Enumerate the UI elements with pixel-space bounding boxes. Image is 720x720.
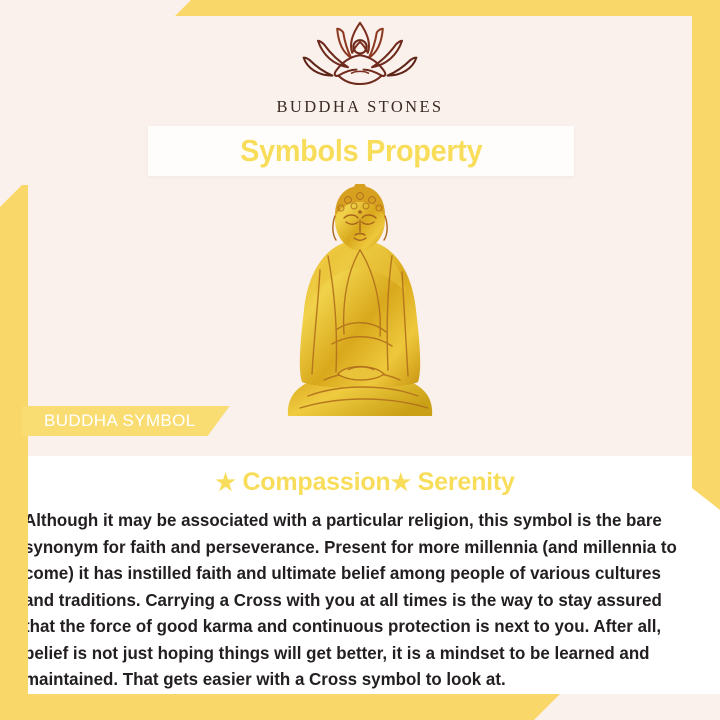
brand-logo: BUDDHA STONES (0, 18, 720, 117)
page-title: Symbols Property (240, 133, 482, 169)
decorative-bottom-bar (0, 694, 560, 720)
star-icon-1: ★ (215, 469, 235, 495)
title-banner: Symbols Property (148, 126, 574, 176)
decorative-top-bar (175, 0, 720, 16)
lotus-meditation-icon (294, 18, 426, 90)
infographic-poster: BUDDHA STONES Symbols Property (0, 0, 720, 720)
brand-name: BUDDHA STONES (276, 97, 443, 117)
buddha-symbol-tag-label: BUDDHA SYMBOL (44, 411, 196, 431)
content-paragraph: Although it may be associated with a par… (24, 507, 696, 693)
decorative-left-bar (0, 185, 28, 720)
content-heading: ★ Compassion★ Serenity (24, 468, 706, 497)
heading-word-serenity: Serenity (411, 468, 515, 496)
decorative-right-bar (692, 0, 720, 510)
golden-buddha-statue-image (262, 184, 458, 420)
buddha-symbol-tag: BUDDHA SYMBOL (22, 406, 230, 436)
heading-word-compassion: Compassion (236, 468, 391, 496)
star-icon-2: ★ (390, 469, 410, 495)
content-panel: ★ Compassion★ Serenity Although it may b… (28, 456, 720, 694)
